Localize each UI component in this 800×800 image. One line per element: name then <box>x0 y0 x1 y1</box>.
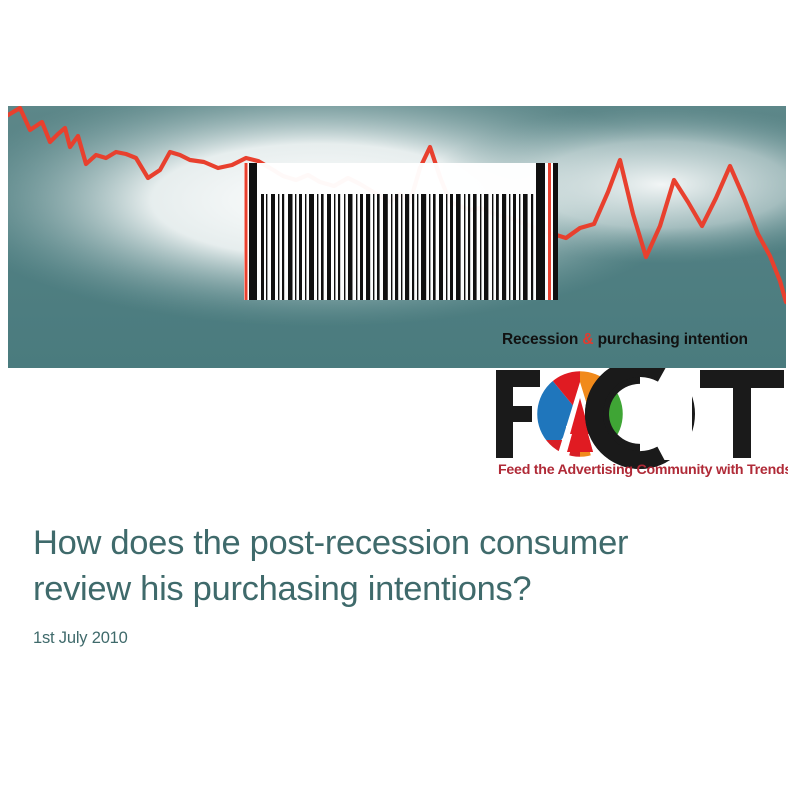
slide-root: Recession & purchasing intention <box>0 0 800 800</box>
logo-letter-t <box>700 370 784 458</box>
barcode-caption: Recession & purchasing intention <box>502 328 782 352</box>
title-block: How does the post-recession consumer rev… <box>33 520 763 648</box>
fact-logo-svg: Feed the Advertising Community with Tren… <box>492 368 788 478</box>
logo-letter-c <box>578 368 702 476</box>
barcode-left-red-marker <box>245 163 248 300</box>
barcode-caption-suffix: purchasing intention <box>593 331 747 348</box>
barcode-graphic: Recession & purchasing intention <box>240 163 562 300</box>
logo-letter-f <box>496 370 540 458</box>
fact-logo: Feed the Advertising Community with Tren… <box>492 368 788 478</box>
barcode-right-red-marker <box>548 163 551 300</box>
logo-tagline: Feed the Advertising Community with Tren… <box>498 462 788 478</box>
barcode-caption-prefix: Recession <box>502 331 582 348</box>
barcode-caption-ampersand: & <box>582 331 593 348</box>
barcode-left-guard <box>249 163 257 300</box>
barcode-svg <box>240 163 562 300</box>
barcode-right-outer-bar <box>553 163 558 300</box>
barcode-right-guard <box>536 163 545 300</box>
barcode-bars <box>261 194 533 300</box>
page-title: How does the post-recession consumer rev… <box>33 520 763 612</box>
slide-date: 1st July 2010 <box>33 629 763 648</box>
